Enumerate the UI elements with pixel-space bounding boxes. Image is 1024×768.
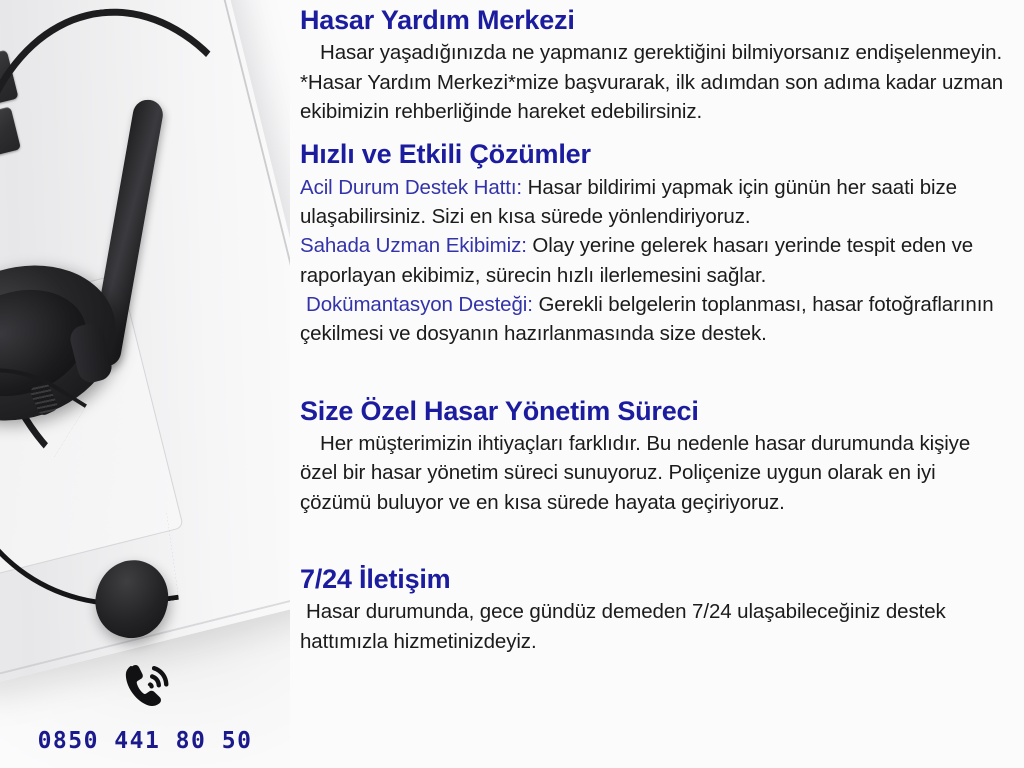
section-paragraph-iletisim: Hasar durumunda, gece gündüz demeden 7/2… bbox=[300, 597, 1006, 656]
solution-item-dokumantasyon: Dokümantasyon Desteği: Gerekli belgeleri… bbox=[300, 290, 1006, 349]
section-paragraph-size-ozel-hasar-yonetim-sureci: Her müşterimizin ihtiyaçları farklıdır. … bbox=[300, 429, 1006, 517]
solution-item-sahada-uzman: Sahada Uzman Ekibimiz: Olay yerine geler… bbox=[300, 231, 1006, 290]
solution-item-label: Acil Durum Destek Hattı: bbox=[300, 176, 522, 199]
section-heading-hizli-ve-etkili-cozumler: Hızlı ve Etkili Çözümler bbox=[300, 138, 1006, 170]
phone-call-icon[interactable] bbox=[114, 656, 176, 718]
section-heading-hasar-yardim-merkezi: Hasar Yardım Merkezi bbox=[300, 4, 1006, 36]
headset-laptop-photo: 0850 441 80 50 bbox=[0, 0, 290, 768]
solution-item-label: Dokümantasyon Desteği: bbox=[306, 293, 533, 316]
solution-item-acil-durum: Acil Durum Destek Hattı: Hasar bildirimi… bbox=[300, 173, 1006, 232]
section-paragraph-hasar-yardim-merkezi: Hasar yaşadığınızda ne yapmanız gerektiğ… bbox=[300, 38, 1006, 126]
page-root: 0850 441 80 50 Hasar Yardım Merkezi Hasa… bbox=[0, 0, 1024, 768]
section-heading-iletisim: 7/24 İletişim bbox=[300, 563, 1006, 595]
solution-item-label: Sahada Uzman Ekibimiz: bbox=[300, 234, 527, 257]
section-heading-size-ozel-hasar-yonetim-sureci: Size Özel Hasar Yönetim Süreci bbox=[300, 395, 1006, 427]
contact-block: 0850 441 80 50 bbox=[0, 656, 290, 754]
phone-number[interactable]: 0850 441 80 50 bbox=[0, 728, 290, 754]
content-column: Hasar Yardım Merkezi Hasar yaşadığınızda… bbox=[300, 0, 1006, 768]
